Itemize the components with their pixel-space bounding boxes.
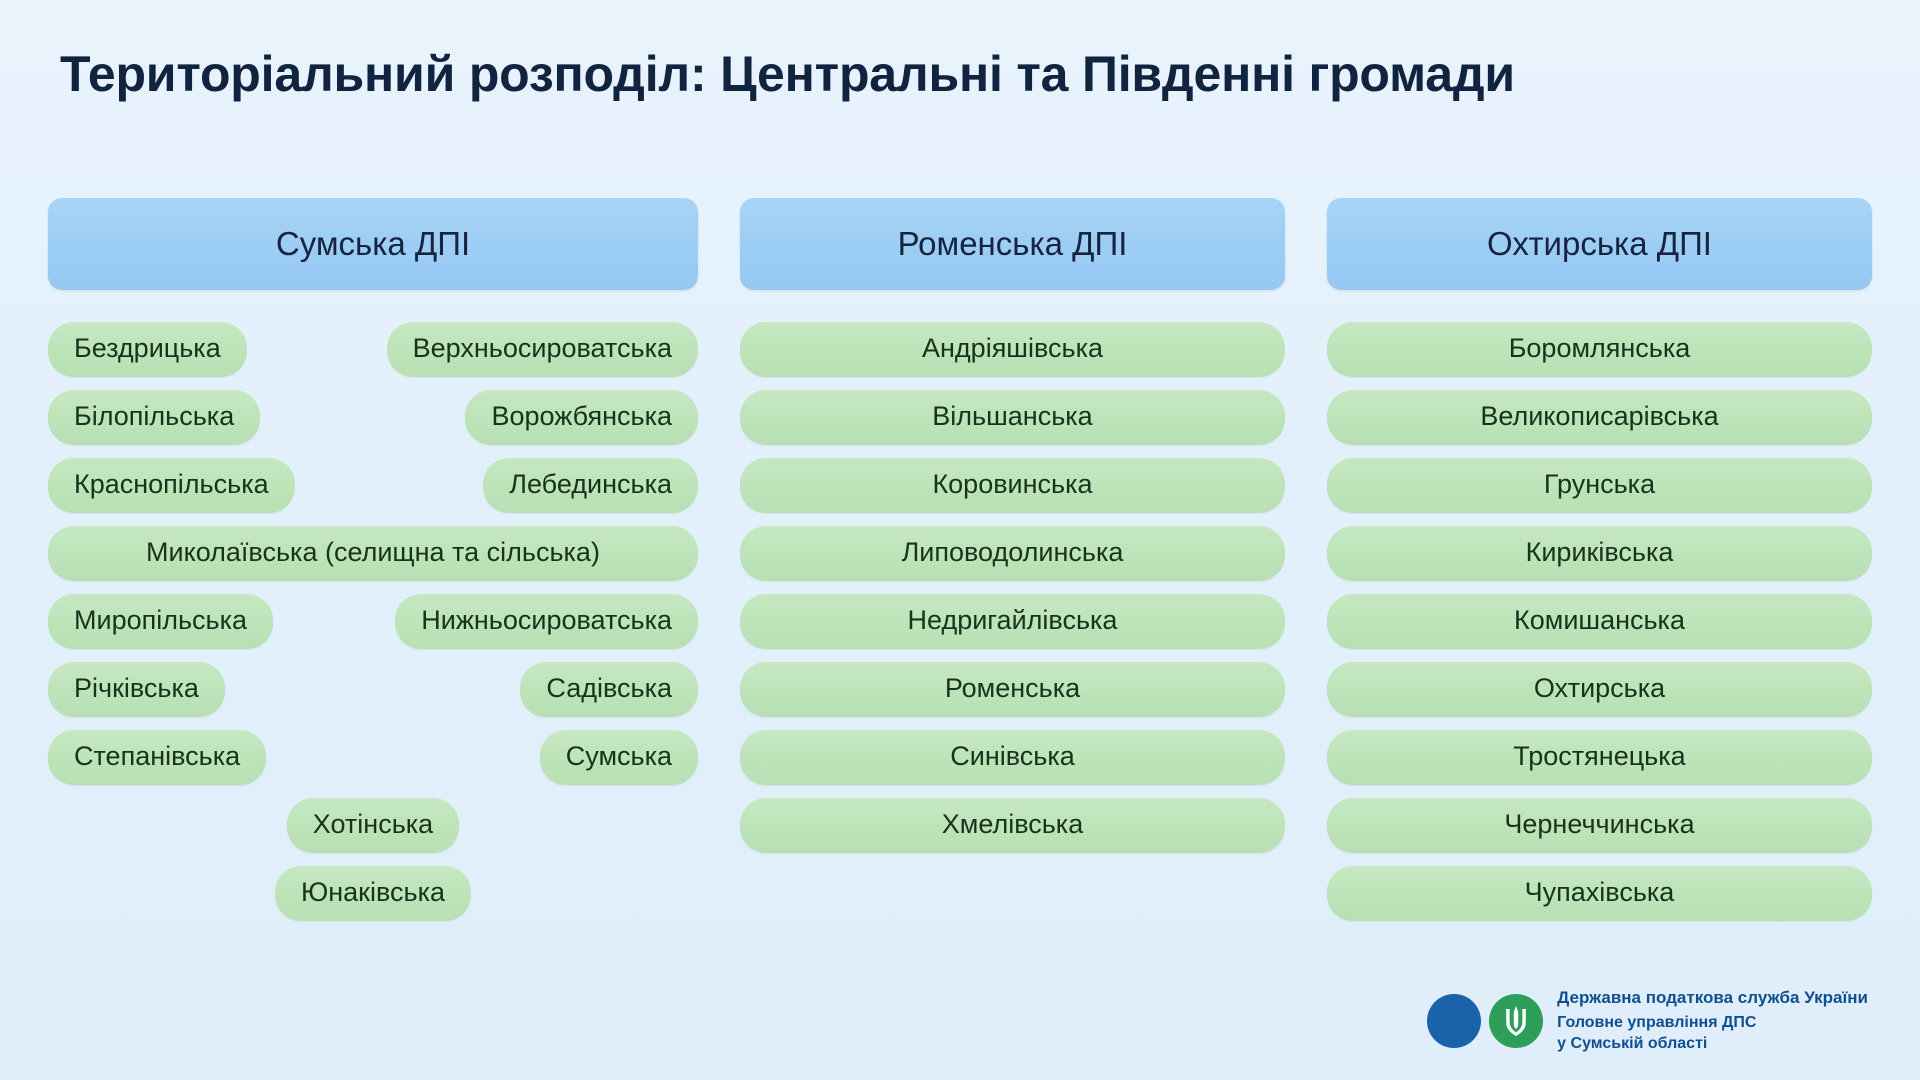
pill-row: Чупахівська <box>1327 866 1872 921</box>
pill-row: Недригайлівська <box>740 594 1285 649</box>
pill-row: Краснопільська Лебединська <box>48 458 698 513</box>
list-item[interactable]: Хмелівська <box>740 798 1285 853</box>
list-item[interactable]: Білопільська <box>48 390 260 445</box>
list-item[interactable]: Комишанська <box>1327 594 1872 649</box>
pill-row: Липоводолинська <box>740 526 1285 581</box>
pill-row: Грунська <box>1327 458 1872 513</box>
logo-marks <box>1427 994 1543 1048</box>
list-item[interactable]: Сумська <box>540 730 698 785</box>
blue-circle-icon <box>1427 994 1481 1048</box>
list-item[interactable]: Юнаківська <box>275 866 471 921</box>
list-item[interactable]: Річківська <box>48 662 225 717</box>
list-item[interactable]: Тростянецька <box>1327 730 1872 785</box>
list-item[interactable]: Боромлянська <box>1327 322 1872 377</box>
green-circle-trident-icon <box>1489 994 1543 1048</box>
pill-row: Миропільська Нижньосироватська <box>48 594 698 649</box>
list-item[interactable]: Миколаївська (селищна та сільська) <box>48 526 698 581</box>
list-item[interactable]: Чернеччинська <box>1327 798 1872 853</box>
pill-row: Степанівська Сумська <box>48 730 698 785</box>
list-item[interactable]: Роменська <box>740 662 1285 717</box>
list-item[interactable]: Андріяшівська <box>740 322 1285 377</box>
footer-line-1: Державна податкова служба України <box>1557 987 1868 1009</box>
column-header-okhtyrska: Охтирська ДПІ <box>1327 198 1872 290</box>
list-item[interactable]: Недригайлівська <box>740 594 1285 649</box>
footer-text: Державна податкова служба України Головн… <box>1557 987 1868 1054</box>
list-item[interactable]: Миропільська <box>48 594 273 649</box>
pill-row: Бездрицька Верхньосироватська <box>48 322 698 377</box>
pill-row: Роменська <box>740 662 1285 717</box>
list-item[interactable]: Краснопільська <box>48 458 295 513</box>
list-item[interactable]: Степанівська <box>48 730 266 785</box>
footer-logo-block: Державна податкова служба України Головн… <box>1427 987 1868 1054</box>
column-header-sumska: Сумська ДПІ <box>48 198 698 290</box>
pill-row: Великописарівська <box>1327 390 1872 445</box>
page-title: Територіальний розподіл: Центральні та П… <box>60 46 1880 102</box>
list-item[interactable]: Великописарівська <box>1327 390 1872 445</box>
pill-row: Тростянецька <box>1327 730 1872 785</box>
slide-root: Територіальний розподіл: Центральні та П… <box>0 0 1920 1080</box>
pill-list-romenska: Андріяшівська Вільшанська Коровинська Ли… <box>740 322 1285 853</box>
pill-row: Юнаківська <box>48 866 698 921</box>
column-okhtyrska: Охтирська ДПІ Боромлянська Великописарів… <box>1327 198 1872 921</box>
pill-row: Коровинська <box>740 458 1285 513</box>
pill-row: Річківська Садівська <box>48 662 698 717</box>
list-item[interactable]: Нижньосироватська <box>395 594 698 649</box>
list-item[interactable]: Лебединська <box>483 458 698 513</box>
column-sumska: Сумська ДПІ Бездрицька Верхньосироватськ… <box>48 198 698 921</box>
list-item[interactable]: Садівська <box>520 662 698 717</box>
pill-row: Комишанська <box>1327 594 1872 649</box>
pill-row: Хотінська <box>48 798 698 853</box>
list-item[interactable]: Кириківська <box>1327 526 1872 581</box>
list-item[interactable]: Липоводолинська <box>740 526 1285 581</box>
list-item[interactable]: Вільшанська <box>740 390 1285 445</box>
pill-row: Чернеччинська <box>1327 798 1872 853</box>
list-item[interactable]: Грунська <box>1327 458 1872 513</box>
pill-row: Вільшанська <box>740 390 1285 445</box>
pill-row: Андріяшівська <box>740 322 1285 377</box>
pill-row: Кириківська <box>1327 526 1872 581</box>
column-romenska: Роменська ДПІ Андріяшівська Вільшанська … <box>740 198 1285 853</box>
pill-row: Боромлянська <box>1327 322 1872 377</box>
pill-row: Охтирська <box>1327 662 1872 717</box>
pill-row: Білопільська Ворожбянська <box>48 390 698 445</box>
list-item[interactable]: Верхньосироватська <box>387 322 698 377</box>
pill-row: Синівська <box>740 730 1285 785</box>
list-item[interactable]: Охтирська <box>1327 662 1872 717</box>
list-item[interactable]: Хотінська <box>287 798 459 853</box>
list-item[interactable]: Синівська <box>740 730 1285 785</box>
pill-row: Хмелівська <box>740 798 1285 853</box>
pill-list-sumska: Бездрицька Верхньосироватська Білопільсь… <box>48 322 698 921</box>
footer-line-3: у Сумській області <box>1557 1034 1868 1054</box>
columns-container: Сумська ДПІ Бездрицька Верхньосироватськ… <box>48 198 1878 921</box>
list-item[interactable]: Ворожбянська <box>465 390 698 445</box>
list-item[interactable]: Коровинська <box>740 458 1285 513</box>
column-header-romenska: Роменська ДПІ <box>740 198 1285 290</box>
footer-line-2: Головне управління ДПС <box>1557 1013 1868 1033</box>
list-item[interactable]: Бездрицька <box>48 322 247 377</box>
list-item[interactable]: Чупахівська <box>1327 866 1872 921</box>
pill-list-okhtyrska: Боромлянська Великописарівська Грунська … <box>1327 322 1872 921</box>
pill-row: Миколаївська (селищна та сільська) <box>48 526 698 581</box>
